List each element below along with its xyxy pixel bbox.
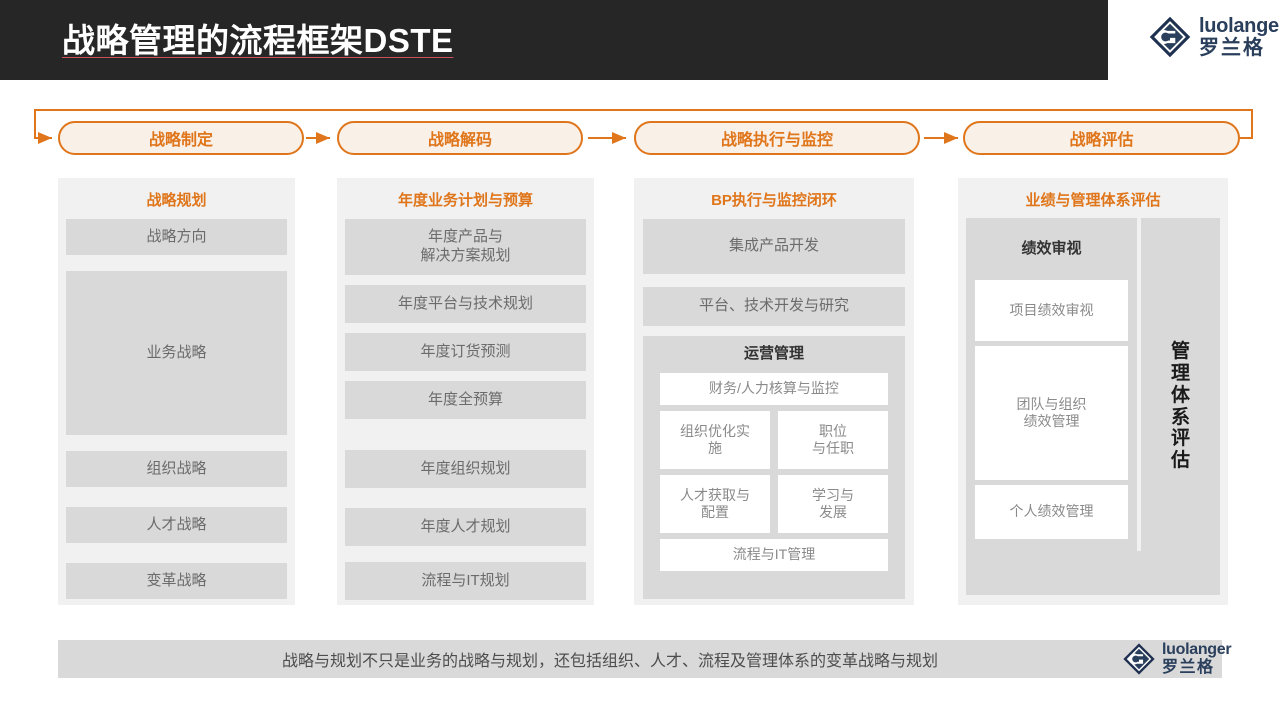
item-label: 团队与组织 绩效管理 — [1017, 396, 1087, 431]
flow-step-label: 战略制定 — [149, 126, 213, 150]
ops-item-process-it-management[interactable]: 流程与IT管理 — [660, 539, 888, 571]
column-performance-assessment: 业绩与管理体系评估 管理体系评估 绩效审视 项目绩效审视 团队与组织 绩效管理 … — [958, 178, 1228, 605]
item-label: 组织优化实 施 — [680, 423, 750, 458]
column-title: BP执行与监控闭环 — [634, 189, 914, 210]
group-operations-management: 运营管理 财务/人力核算与监控 组织优化实 施 职位 与任职 人才获取与 配置 … — [643, 336, 905, 599]
flow-step-strategy-execution-monitoring[interactable]: 战略执行与监控 — [634, 121, 920, 155]
ops-item-learning-development[interactable]: 学习与 发展 — [778, 475, 888, 533]
item-talent-strategy[interactable]: 人才战略 — [66, 507, 287, 543]
item-label: 年度全预算 — [428, 391, 503, 410]
column-bp-execution-monitoring: BP执行与监控闭环 集成产品开发 平台、技术开发与研究 运营管理 财务/人力核算… — [634, 178, 914, 605]
review-item-individual-performance-management[interactable]: 个人绩效管理 — [975, 485, 1128, 539]
item-annual-order-forecast[interactable]: 年度订货预测 — [345, 333, 586, 371]
item-platform-tech-development-research[interactable]: 平台、技术开发与研究 — [643, 287, 905, 326]
logo-chinese-text: 罗兰格 — [1199, 38, 1280, 58]
item-label: 变革战略 — [146, 572, 206, 591]
footer-logo-words: luolanger 罗兰格 — [1162, 642, 1231, 676]
header-logo: luolanger 罗兰格 — [1148, 8, 1280, 66]
item-annual-platform-tech-plan[interactable]: 年度平台与技术规划 — [345, 285, 586, 323]
item-label: 业务战略 — [146, 344, 206, 363]
ops-item-org-optimization[interactable]: 组织优化实 施 — [660, 411, 770, 469]
diamond-logo-icon — [1148, 15, 1192, 59]
logo-chinese-text: 罗兰格 — [1162, 660, 1231, 676]
item-integrated-product-development[interactable]: 集成产品开发 — [643, 219, 905, 274]
flow-step-label: 战略解码 — [428, 126, 492, 150]
item-label: 年度组织规划 — [420, 460, 510, 479]
item-label: 组织战略 — [146, 460, 206, 479]
flow-step-strategy-formulation[interactable]: 战略制定 — [58, 121, 304, 155]
item-annual-product-solution-plan[interactable]: 年度产品与 解决方案规划 — [345, 219, 586, 275]
side-label-management-system-assessment[interactable]: 管理体系评估 — [1141, 218, 1220, 595]
item-annual-talent-plan[interactable]: 年度人才规划 — [345, 508, 586, 546]
header-logo-words: luolanger 罗兰格 — [1199, 16, 1280, 58]
item-change-strategy[interactable]: 变革战略 — [66, 563, 287, 599]
item-business-strategy[interactable]: 业务战略 — [66, 271, 287, 435]
item-label: 年度订货预测 — [420, 343, 510, 362]
item-label: 集成产品开发 — [729, 237, 819, 256]
flow-step-label: 战略评估 — [1069, 126, 1133, 150]
item-label: 职位 与任职 — [812, 423, 854, 458]
item-label: 战略方向 — [146, 228, 206, 247]
footer-note: 战略与规划不只是业务的战略与规划，还包括组织、人才、流程及管理体系的变革战略与规… — [282, 647, 938, 671]
footer-logo: luolanger 罗兰格 — [1122, 640, 1244, 678]
flow-step-strategy-evaluation[interactable]: 战略评估 — [963, 121, 1240, 155]
item-label: 学习与 发展 — [812, 487, 854, 522]
column-title: 业绩与管理体系评估 — [958, 189, 1228, 210]
item-label: 人才战略 — [146, 516, 206, 535]
group-title: 运营管理 — [643, 345, 905, 364]
ops-item-talent-acquisition-allocation[interactable]: 人才获取与 配置 — [660, 475, 770, 533]
item-organization-strategy[interactable]: 组织战略 — [66, 451, 287, 487]
item-label: 流程与IT规划 — [421, 572, 509, 591]
flow-step-label: 战略执行与监控 — [721, 126, 833, 150]
column-title: 战略规划 — [58, 189, 295, 210]
page-title: 战略管理的流程框架DSTE — [62, 14, 454, 62]
item-label: 平台、技术开发与研究 — [699, 297, 849, 316]
item-label: 财务/人力核算与监控 — [709, 380, 839, 398]
review-item-project-performance-review[interactable]: 项目绩效审视 — [975, 280, 1128, 341]
column-title: 年度业务计划与预算 — [337, 189, 594, 210]
diamond-logo-icon — [1122, 642, 1156, 676]
column-annual-business-plan: 年度业务计划与预算 年度产品与 解决方案规划 年度平台与技术规划 年度订货预测 … — [337, 178, 594, 605]
footer-bar: 战略与规划不只是业务的战略与规划，还包括组织、人才、流程及管理体系的变革战略与规… — [58, 640, 1222, 678]
item-strategy-direction[interactable]: 战略方向 — [66, 219, 287, 255]
flow-step-strategy-decoding[interactable]: 战略解码 — [337, 121, 583, 155]
group-performance-review: 绩效审视 项目绩效审视 团队与组织 绩效管理 个人绩效管理 — [966, 218, 1137, 555]
item-label: 流程与IT管理 — [733, 546, 815, 564]
item-annual-full-budget[interactable]: 年度全预算 — [345, 381, 586, 419]
item-label: 项目绩效审视 — [1010, 302, 1094, 320]
review-item-team-org-performance-management[interactable]: 团队与组织 绩效管理 — [975, 346, 1128, 480]
process-flow-row: 战略制定 战略解码 战略执行与监控 战略评估 — [0, 100, 1280, 166]
logo-english-text: luolanger — [1162, 642, 1231, 658]
ops-item-position-appointment[interactable]: 职位 与任职 — [778, 411, 888, 469]
slide-root: 战略管理的流程框架DSTE luolanger 罗兰格 — [0, 0, 1280, 720]
item-label: 人才获取与 配置 — [680, 487, 750, 522]
item-label: 个人绩效管理 — [1010, 503, 1094, 521]
group-title: 绩效审视 — [966, 240, 1137, 259]
item-label: 年度人才规划 — [420, 518, 510, 537]
side-label-text: 管理体系评估 — [1169, 341, 1192, 472]
item-process-it-plan[interactable]: 流程与IT规划 — [345, 562, 586, 600]
item-label: 年度产品与 解决方案规划 — [420, 228, 510, 266]
item-label: 年度平台与技术规划 — [398, 295, 533, 314]
item-annual-org-plan[interactable]: 年度组织规划 — [345, 450, 586, 488]
logo-english-text: luolanger — [1199, 16, 1280, 36]
ops-item-finance-hr-accounting-monitoring[interactable]: 财务/人力核算与监控 — [660, 373, 888, 405]
column-strategy-planning: 战略规划 战略方向 业务战略 组织战略 人才战略 变革战略 — [58, 178, 295, 605]
